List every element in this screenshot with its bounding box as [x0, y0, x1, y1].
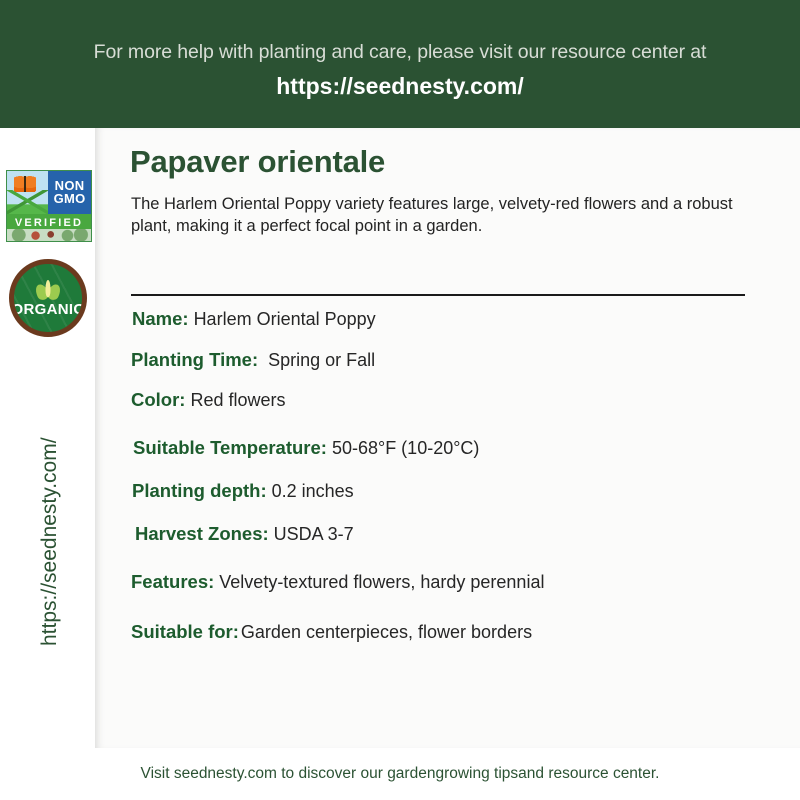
organic-seal-icon: ORGANIC: [9, 259, 87, 337]
variety-description: The Harlem Oriental Poppy variety featur…: [131, 193, 761, 238]
grass-icon: [7, 190, 48, 214]
spec-value-features: Velvety-textured flowers, hardy perennia…: [219, 572, 544, 593]
spec-value-name: Harlem Oriental Poppy: [194, 309, 376, 330]
spec-value-harvest-zones: USDA 3-7: [274, 524, 354, 545]
main-info-panel: Papaver orientale The Harlem Oriental Po…: [95, 128, 800, 748]
non-gmo-verified-badge-icon: NON GMO VERIFIED: [6, 170, 92, 242]
spec-row-harvest-zones: Harvest Zones: USDA 3-7: [135, 523, 781, 545]
page-title: Papaver orientale: [130, 144, 385, 180]
spec-list: Name: Harlem Oriental Poppy Planting Tim…: [131, 308, 781, 643]
spec-value-suitable-for: Garden centerpieces, flower borders: [241, 622, 532, 643]
footer-bar: Visit seednesty.com to discover our gard…: [0, 748, 800, 800]
stem-icon: [46, 280, 51, 297]
seed-packet-info-card: For more help with planting and care, pl…: [0, 0, 800, 800]
spec-row-planting-depth: Planting depth: 0.2 inches: [132, 480, 781, 502]
spec-row-features: Features: Velvety-textured flowers, hard…: [131, 571, 781, 593]
section-divider: [131, 294, 745, 296]
spec-value-planting-time: Spring or Fall: [268, 350, 375, 371]
sidebar-vertical-url[interactable]: https://seednesty.com/: [38, 346, 62, 646]
non-gmo-badge-sky-panel: [7, 171, 48, 214]
spec-label-color: Color:: [131, 389, 185, 411]
non-gmo-badge-text-panel: NON GMO: [48, 171, 91, 214]
header-website-url[interactable]: https://seednesty.com/: [276, 73, 524, 101]
spec-label-suitable-for: Suitable for:: [131, 621, 239, 643]
seed-field-strip-icon: [7, 229, 91, 241]
spec-row-planting-time: Planting Time: Spring or Fall: [131, 349, 781, 371]
organic-seal-label: ORGANIC: [12, 302, 85, 317]
spec-value-planting-depth: 0.2 inches: [272, 481, 354, 502]
spec-row-color: Color: Red flowers: [131, 389, 781, 411]
non-gmo-line-gmo: GMO: [54, 193, 86, 206]
spec-label-name: Name:: [132, 308, 189, 330]
leaf-sprout-icon: [36, 280, 60, 300]
left-sidebar: NON GMO VERIFIED ORGANIC https://seednes…: [0, 128, 95, 800]
header-banner: For more help with planting and care, pl…: [0, 0, 800, 128]
spec-value-color: Red flowers: [190, 390, 285, 411]
spec-row-name: Name: Harlem Oriental Poppy: [132, 308, 781, 330]
spec-row-suitable-for: Suitable for: Garden centerpieces, flowe…: [131, 621, 781, 643]
spec-label-features: Features:: [131, 571, 214, 593]
non-gmo-badge-upper: NON GMO: [7, 171, 91, 214]
spec-row-suitable-temperature: Suitable Temperature: 50-68°F (10-20°C): [133, 437, 781, 459]
spec-label-harvest-zones: Harvest Zones:: [135, 523, 269, 545]
footer-text: Visit seednesty.com to discover our gard…: [141, 765, 660, 783]
spec-value-suitable-temperature: 50-68°F (10-20°C): [332, 438, 479, 459]
spec-label-planting-depth: Planting depth:: [132, 480, 267, 502]
header-help-text: For more help with planting and care, pl…: [94, 41, 707, 64]
spec-label-suitable-temperature: Suitable Temperature:: [133, 437, 327, 459]
spec-label-planting-time: Planting Time:: [131, 349, 258, 371]
